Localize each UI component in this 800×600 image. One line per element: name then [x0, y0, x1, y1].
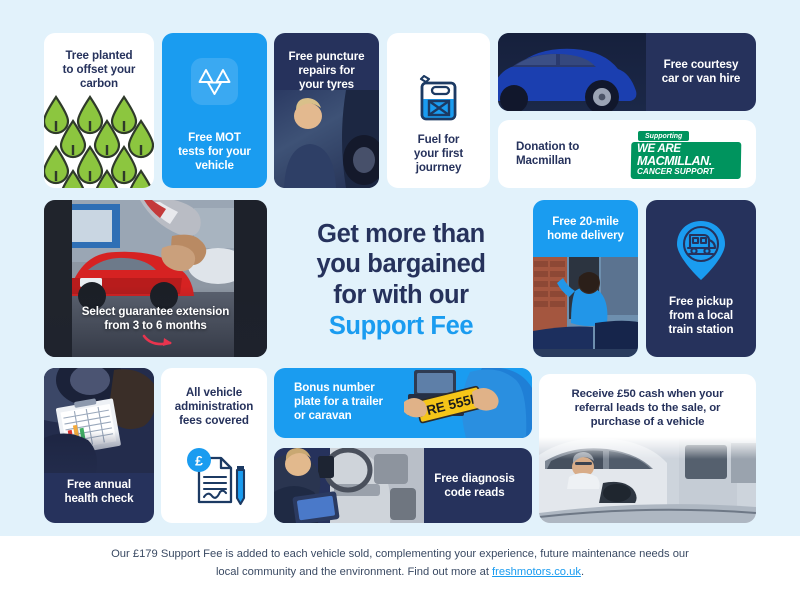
- card-train-pickup-label: Free pickup from a local train station: [651, 295, 751, 337]
- card-free-mot[interactable]: Free MOT tests for your vehicle: [162, 33, 267, 188]
- footer-text: Our £179 Support Fee is added to each ve…: [104, 545, 696, 581]
- card-number-plate[interactable]: FRE 555H Bonus number plate for a traile…: [274, 368, 532, 438]
- home-delivery-photo: [533, 257, 638, 357]
- card-admin-fees[interactable]: All vehicle administration fees covered …: [161, 368, 267, 523]
- card-fuel[interactable]: Fuel for your first jourrney: [387, 33, 490, 188]
- card-health-check[interactable]: Free annual health check: [44, 368, 154, 523]
- mechanic-tyre-photo: [274, 90, 379, 188]
- card-admin-fees-label: All vehicle administration fees covered: [165, 386, 263, 428]
- card-puncture-repairs-label: Free puncture repairs for your tyres: [279, 50, 374, 92]
- macmillan-supporting-text: Supporting: [638, 131, 689, 141]
- hero-line-2: you bargained: [316, 249, 485, 280]
- tree-pattern-icon: [44, 95, 154, 188]
- diagnostic-tablet-photo: [274, 448, 424, 523]
- train-location-pin-icon: [676, 220, 726, 282]
- footer-link[interactable]: freshmotors.co.uk: [492, 566, 581, 578]
- support-fee-infographic: Tree planted to offset your carbon: [0, 0, 800, 600]
- card-diagnosis-label: Free diagnosis code reads: [422, 472, 527, 500]
- card-courtesy-car[interactable]: Free courtesy car or van hire: [498, 33, 756, 111]
- blue-car-photo: [498, 33, 646, 111]
- card-home-delivery-label: Free 20-mile home delivery: [537, 215, 634, 243]
- footer-text-before: Our £179 Support Fee is added to each ve…: [111, 548, 689, 578]
- card-fuel-label: Fuel for your first jourrney: [391, 133, 486, 175]
- card-free-mot-label: Free MOT tests for your vehicle: [167, 131, 262, 173]
- svg-text:£: £: [195, 453, 203, 469]
- macmillan-line2: MACMILLAN.: [637, 154, 712, 168]
- jerry-can-icon: [419, 75, 459, 121]
- card-number-plate-label: Bonus number plate for a trailer or cara…: [294, 381, 414, 423]
- card-home-delivery[interactable]: Free 20-mile home delivery: [533, 200, 638, 357]
- card-tree-planted-label: Tree planted to offset your carbon: [50, 49, 148, 91]
- pound-document-pen-icon: £: [183, 444, 247, 506]
- card-tree-planted[interactable]: Tree planted to offset your carbon: [44, 33, 154, 188]
- mot-triangles-icon: [191, 58, 238, 105]
- card-referral-label: Receive £50 cash when your referral lead…: [547, 388, 748, 430]
- card-puncture-repairs[interactable]: Free puncture repairs for your tyres: [274, 33, 379, 188]
- hero-line-1: Get more than: [317, 219, 485, 250]
- inspection-clipboard-photo: [44, 368, 154, 473]
- card-macmillan-label: Donation to Macmillan: [516, 140, 626, 168]
- card-guarantee-extension-label: Select guarantee extension from 3 to 6 m…: [52, 305, 259, 333]
- card-diagnosis[interactable]: Free diagnosis code reads: [274, 448, 532, 523]
- footer: Our £179 Support Fee is added to each ve…: [0, 536, 800, 600]
- macmillan-logo: Supporting WE ARE MACMILLAN. CANCER SUPP…: [631, 131, 741, 179]
- curved-arrow-icon: [142, 333, 178, 349]
- hero-line-3: for with our: [333, 280, 468, 311]
- card-guarantee-extension[interactable]: Select guarantee extension from 3 to 6 m…: [44, 200, 267, 357]
- card-referral[interactable]: Receive £50 cash when your referral lead…: [539, 374, 756, 523]
- footer-text-after: .: [581, 566, 584, 578]
- hero-line-4: Support Fee: [329, 311, 473, 342]
- macmillan-line3: CANCER SUPPORT: [637, 167, 714, 176]
- card-macmillan-donation[interactable]: Donation to Macmillan Supporting WE ARE …: [498, 120, 756, 188]
- card-train-pickup[interactable]: Free pickup from a local train station: [646, 200, 756, 357]
- card-health-check-label: Free annual health check: [49, 478, 149, 506]
- driver-in-car-photo: [539, 437, 756, 523]
- card-courtesy-car-label: Free courtesy car or van hire: [650, 58, 752, 86]
- hero-headline: Get more than you bargained for with our…: [272, 200, 530, 360]
